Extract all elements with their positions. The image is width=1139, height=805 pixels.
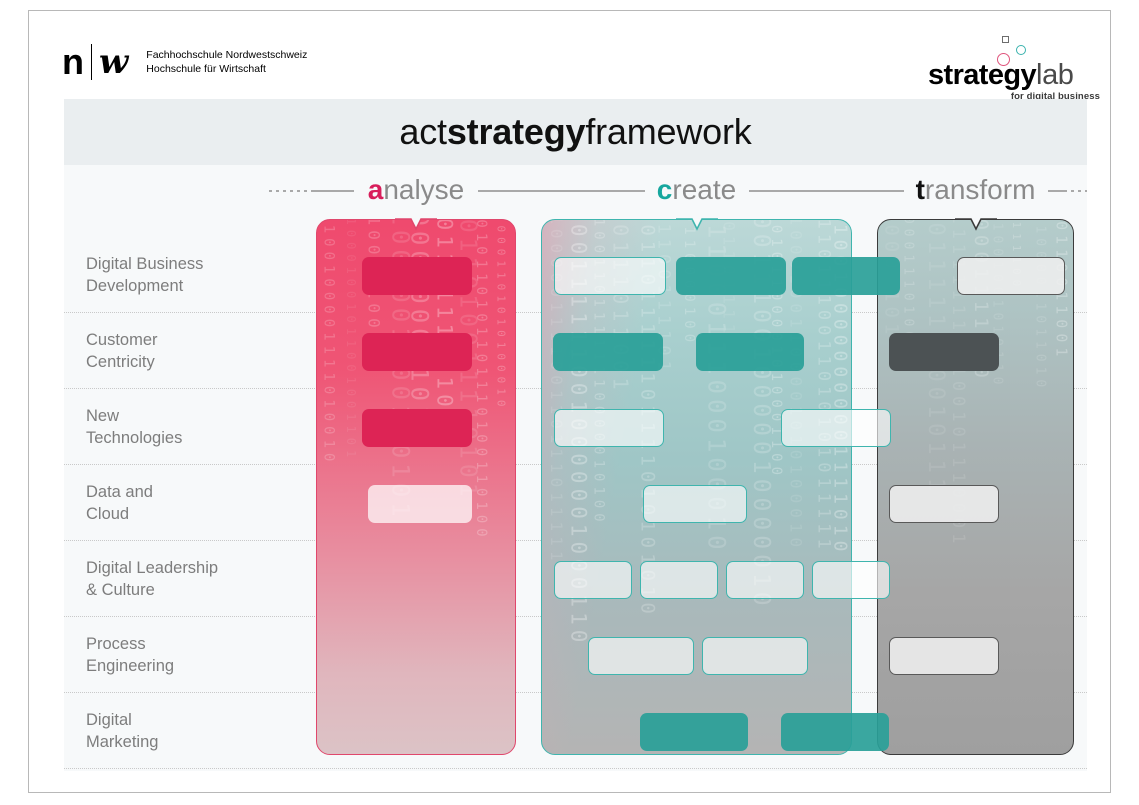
row-label-line1: New	[86, 405, 286, 427]
phase-panel-create[interactable]: 0010000011110011011101111110100111111001…	[541, 219, 852, 755]
strategylab-wordmark: strategylab	[928, 59, 1074, 91]
framework-card-analyse-r2[interactable]	[362, 409, 472, 447]
phase-rest-create: reate	[672, 174, 736, 205]
phase-label-analyse[interactable]: analyse	[356, 174, 477, 206]
phase-rest-transform: ransform	[925, 174, 1035, 205]
slide-frame: n w Fachhochschule Nordwestschweiz Hochs…	[28, 10, 1111, 793]
panel-notch-icon	[955, 218, 997, 238]
framework-card-create-r5[interactable]	[702, 637, 808, 675]
framework-card-analyse-r0[interactable]	[362, 257, 472, 295]
phase-panel-analyse[interactable]: 1110100100001111010010111100010010110010…	[316, 219, 516, 755]
phase-rest-analyse: nalyse	[383, 174, 464, 205]
phase-connector-line	[749, 190, 904, 192]
row-label-5: ProcessEngineering	[86, 633, 286, 677]
row-label-line2: Engineering	[86, 655, 286, 677]
framework-card-create-r2[interactable]	[554, 409, 664, 447]
strategylab-word-bold: strategy	[928, 59, 1036, 91]
framework-card-analyse-r1[interactable]	[362, 333, 472, 371]
panel-notch-icon	[395, 218, 437, 238]
strategylab-logo: strategylab for digital business	[920, 31, 1100, 103]
row-label-line1: Digital Business	[86, 253, 286, 275]
row-label-line1: Data and	[86, 481, 286, 503]
phase-connector-line	[478, 190, 645, 192]
framework-card-create-r4[interactable]	[554, 561, 632, 599]
fhnw-letter-n: n	[62, 44, 84, 80]
phase-initial-transform: t	[916, 174, 925, 205]
binary-column: 11110001001011001001101	[344, 220, 358, 463]
framework-card-create-r1[interactable]	[553, 333, 663, 371]
framework-card-transform-r5[interactable]	[889, 637, 999, 675]
row-label-line2: Cloud	[86, 503, 286, 525]
fhnw-subtitle-line2: Hochschule für Wirtschaft	[146, 62, 307, 76]
framework-card-create-r5[interactable]	[588, 637, 694, 675]
row-label-line1: Digital	[86, 709, 286, 731]
page-title: actstrategyframework	[399, 111, 751, 153]
binary-column: 1110100100001111010010	[321, 220, 337, 466]
row-label-line1: Process	[86, 633, 286, 655]
circle-outline-teal-icon	[1016, 45, 1026, 55]
square-outline-icon	[1002, 36, 1009, 43]
framework-card-create-r6[interactable]	[781, 713, 889, 751]
phase-label-transform[interactable]: transform	[904, 174, 1048, 206]
row-label-line2: Technologies	[86, 427, 286, 449]
title-part-strategy: strategy	[447, 111, 585, 152]
strategylab-shapes	[994, 31, 1042, 61]
framework-card-create-r0[interactable]	[792, 257, 900, 295]
row-label-line2: Marketing	[86, 731, 286, 753]
binary-column: 0010110101101110100110100	[473, 220, 489, 541]
binary-column: 1011000011011010	[1032, 220, 1047, 393]
phase-connector-line	[312, 190, 354, 192]
framework-card-create-r2[interactable]	[781, 409, 891, 447]
row-label-0: Digital BusinessDevelopment	[86, 253, 286, 297]
fhnw-subtitle: Fachhochschule Nordwestschweiz Hochschul…	[146, 48, 307, 76]
fhnw-wordmark: n w	[62, 44, 128, 80]
phase-connector-dotted	[269, 190, 312, 192]
framework-card-create-r4[interactable]	[726, 561, 804, 599]
row-label-line1: Digital Leadership	[86, 557, 286, 579]
row-label-line2: Centricity	[86, 351, 286, 373]
binary-column: 00100001101010100010	[494, 220, 507, 412]
framework-card-analyse-r3[interactable]	[368, 485, 472, 523]
framework-card-transform-r0[interactable]	[957, 257, 1065, 295]
row-label-line2: & Culture	[86, 579, 286, 601]
framework-card-create-r4[interactable]	[812, 561, 890, 599]
row-label-6: DigitalMarketing	[86, 709, 286, 753]
row-label-3: Data andCloud	[86, 481, 286, 525]
row-label-line2: Development	[86, 275, 286, 297]
phase-panel-transform[interactable]: 0110000101100011101000110111110000101110…	[877, 219, 1074, 755]
phase-label-create[interactable]: create	[645, 174, 748, 206]
fhnw-divider	[91, 44, 92, 80]
fhnw-subtitle-line1: Fachhochschule Nordwestschweiz	[146, 48, 307, 62]
row-label-4: Digital Leadership& Culture	[86, 557, 286, 601]
framework-card-create-r3[interactable]	[643, 485, 747, 523]
fhnw-letter-w: w	[99, 45, 128, 79]
framework-card-create-r0[interactable]	[554, 257, 666, 295]
framework-card-transform-r3[interactable]	[889, 485, 999, 523]
phase-connector-dotted	[1064, 190, 1087, 192]
title-part-framework: framework	[585, 111, 751, 152]
phase-initial-analyse: a	[368, 174, 384, 205]
row-label-1: CustomerCentricity	[86, 329, 286, 373]
framework-card-create-r4[interactable]	[640, 561, 718, 599]
capability-rows: Digital BusinessDevelopmentCustomerCentr…	[64, 215, 1087, 771]
title-bar: actstrategyframework	[64, 99, 1087, 165]
framework-card-transform-r1[interactable]	[889, 333, 999, 371]
framework-content: actstrategyframework analysecreatetransf…	[64, 99, 1087, 771]
phase-initial-create: c	[657, 174, 673, 205]
phase-connector-line	[1048, 190, 1065, 192]
strategylab-word-light: lab	[1036, 59, 1074, 91]
row-label-line1: Customer	[86, 329, 286, 351]
fhnw-logo: n w Fachhochschule Nordwestschweiz Hochs…	[62, 44, 307, 80]
framework-card-create-r6[interactable]	[640, 713, 748, 751]
panel-notch-icon	[676, 218, 718, 238]
title-part-act: act	[399, 111, 446, 152]
framework-card-create-r0[interactable]	[676, 257, 786, 295]
phase-header: analysecreatetransform	[64, 165, 1087, 215]
row-label-2: NewTechnologies	[86, 405, 286, 449]
framework-card-create-r1[interactable]	[696, 333, 804, 371]
